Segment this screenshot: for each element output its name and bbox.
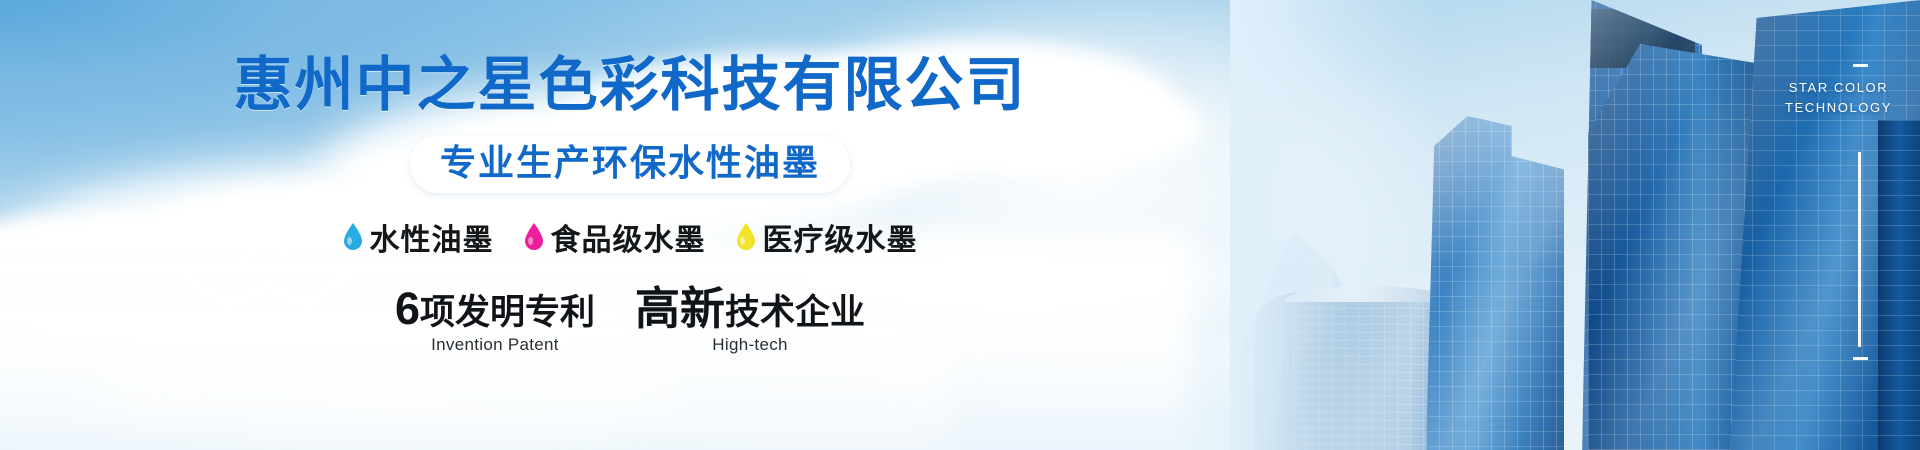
feature-item: 食品级水墨 (524, 215, 706, 259)
feature-list: 水性油墨 食品级水墨 医疗级水墨 (343, 215, 918, 259)
tower-label-line2: TECHNOLOGY (1785, 98, 1892, 118)
water-drop-icon (736, 223, 756, 250)
badge-cn-prefix: 项 (420, 293, 455, 332)
water-drop-icon (343, 223, 363, 250)
company-title: 惠州中之星色彩科技有限公司 (233, 56, 1026, 115)
badge-high-tech: 高新技术企业 High-tech (635, 285, 865, 355)
badge-en-label: Invention Patent (395, 335, 595, 355)
feature-item: 水性油墨 (343, 215, 494, 259)
building-central-tower (1426, 116, 1564, 450)
label-tick-top (1853, 64, 1868, 67)
feature-item: 医疗级水墨 (736, 215, 918, 259)
credential-badges: 6项发明专利 Invention Patent 高新技术企业 High-tech (395, 285, 865, 355)
feature-label: 水性油墨 (370, 215, 494, 259)
label-tick-line (1858, 152, 1861, 347)
skyscraper-photo: STAR COLOR TECHNOLOGY (1230, 0, 1920, 450)
badge-cn-rest: 技术企业 (725, 293, 865, 332)
badge-invention-patent: 6项发明专利 Invention Patent (395, 285, 595, 355)
badge-cn-rest: 发明专利 (455, 293, 595, 332)
badge-cn-line: 高新技术企业 (635, 285, 865, 332)
subtitle-pill: 专业生产环保水性油墨 (410, 136, 850, 193)
badge-cn-line: 6项发明专利 (395, 285, 595, 332)
subtitle-text: 专业生产环保水性油墨 (440, 142, 820, 183)
water-drop-icon (524, 223, 544, 250)
building-right-edge-sliver (1878, 120, 1920, 450)
badge-number: 6 (395, 283, 420, 334)
company-hero-banner: Star Color (0, 0, 1920, 450)
banner-content: 惠州中之星色彩科技有限公司 专业生产环保水性油墨 水性油墨 食品级水墨 (0, 0, 1260, 450)
tower-label: STAR COLOR TECHNOLOGY (1785, 78, 1892, 118)
feature-label: 食品级水墨 (551, 215, 706, 259)
tower-label-line1: STAR COLOR (1785, 78, 1892, 98)
badge-en-label: High-tech (635, 335, 865, 355)
feature-label: 医疗级水墨 (763, 215, 918, 259)
badge-cn-prefix: 高新 (635, 283, 725, 334)
label-tick-bottom (1853, 357, 1868, 360)
